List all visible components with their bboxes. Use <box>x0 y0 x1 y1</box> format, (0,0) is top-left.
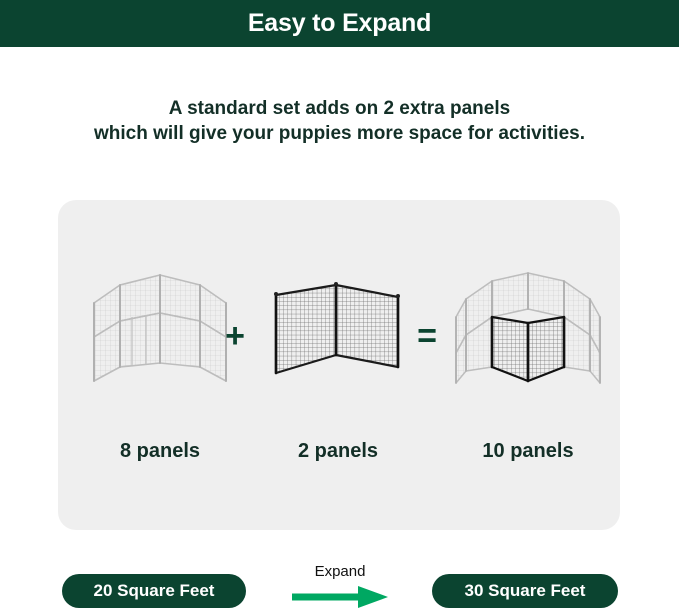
arrow-right-icon <box>288 584 392 610</box>
plus-operator: + <box>217 318 253 354</box>
subtitle-block: A standard set adds on 2 extra panels wh… <box>0 96 679 146</box>
expand-label: Expand <box>288 562 392 582</box>
two-panel-illustration <box>258 255 418 405</box>
eight-panel-label: 8 panels <box>75 440 245 463</box>
subtitle-line-2: which will give your puppies more space … <box>0 121 679 146</box>
subtitle-line-1: A standard set adds on 2 extra panels <box>0 96 679 121</box>
page-title: Easy to Expand <box>248 11 431 36</box>
figure-row: + = <box>58 200 620 530</box>
expand-indicator: Expand <box>288 562 392 612</box>
area-before-badge: 20 Square Feet <box>62 574 246 608</box>
ten-panel-pen-illustration <box>448 255 608 405</box>
eight-panel-pen-illustration <box>80 255 240 405</box>
expansion-diagram-card: + = <box>58 200 620 530</box>
footer-row: 20 Square Feet Expand 30 Square Feet <box>0 552 679 616</box>
area-after-badge: 30 Square Feet <box>432 574 618 608</box>
equals-operator: = <box>409 318 445 354</box>
header-banner: Easy to Expand <box>0 0 679 47</box>
ten-panel-label: 10 panels <box>443 440 613 463</box>
two-panel-label: 2 panels <box>253 440 423 463</box>
